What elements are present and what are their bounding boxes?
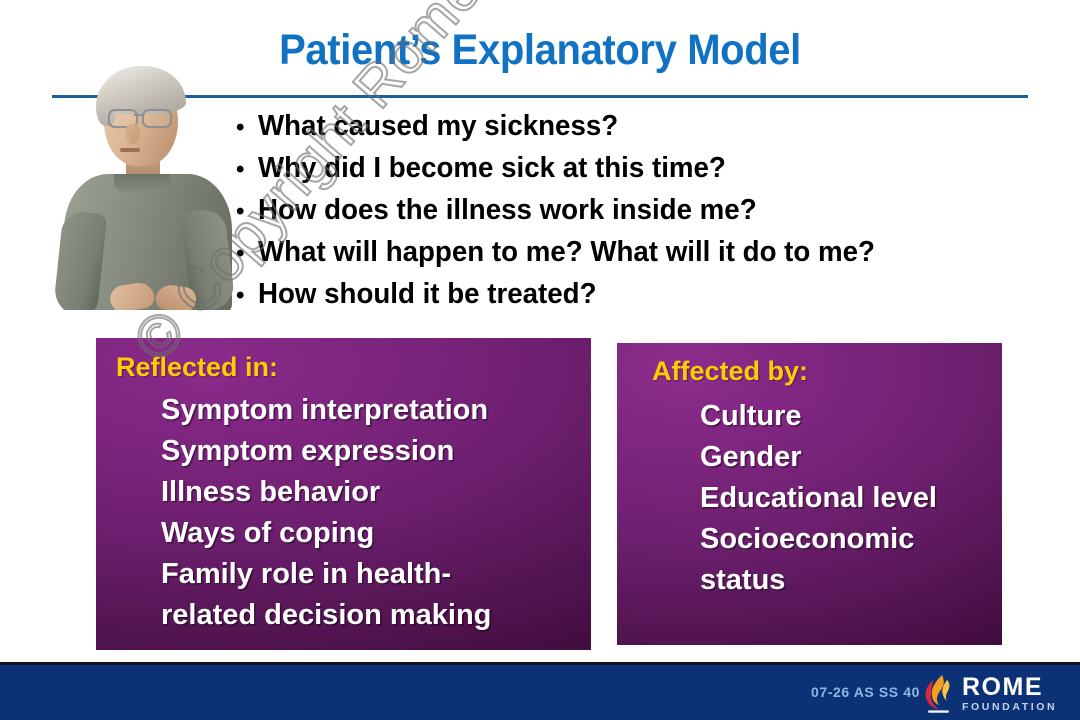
glasses-icon [108, 109, 174, 126]
question-text: What caused my sickness? [258, 106, 618, 146]
logo-primary-text: ROME [962, 675, 1057, 700]
list-item: • What caused my sickness? [236, 106, 1066, 148]
panel-list-item: Family role in health- [161, 554, 491, 595]
glasses-bridge [134, 114, 142, 116]
panel-heading: Reflected in: [116, 352, 278, 382]
panel-list-item: Gender [700, 437, 937, 478]
panel-list-item: Illness behavior [161, 472, 491, 513]
slide-code-label: 07-26 AS SS 40 [811, 684, 920, 700]
panel-list-item: Educational level [700, 478, 937, 519]
panel-list-item: Ways of coping [161, 513, 491, 554]
bullet-icon: • [236, 234, 258, 274]
bullet-icon: • [236, 108, 258, 148]
panel-list-item: status [700, 560, 937, 601]
photo-nose [126, 124, 140, 144]
bullet-icon: • [236, 276, 258, 316]
panel-list-item: Socioeconomic [700, 519, 937, 560]
list-item: • How should it be treated? [236, 274, 1066, 316]
question-list: • What caused my sickness? • Why did I b… [236, 106, 1066, 316]
panel-list-item: Symptom expression [161, 431, 491, 472]
panel-list-item: Symptom interpretation [161, 390, 491, 431]
question-text: How does the illness work inside me? [258, 190, 757, 230]
logo-wordmark: ROME FOUNDATION [962, 675, 1057, 713]
glasses-lens-right [142, 109, 172, 128]
logo-secondary-text: FOUNDATION [962, 701, 1057, 713]
panel-list-item: Culture [700, 396, 937, 437]
patient-photo [52, 62, 242, 310]
question-text: What will happen to me? What will it do … [258, 232, 875, 272]
slide-canvas: Patient’s Explanatory Model • What cause… [0, 0, 1080, 720]
list-item: • How does the illness work inside me? [236, 190, 1066, 232]
question-text: Why did I become sick at this time? [258, 148, 726, 188]
panel-reflected-in: Reflected in: Symptom interpretation Sym… [96, 338, 591, 650]
list-item: • What will happen to me? What will it d… [236, 232, 1066, 274]
photo-collar [114, 174, 170, 194]
flame-icon [922, 674, 956, 714]
photo-mouth [120, 148, 140, 152]
footer-bar: 07-26 AS SS 40 ROME FOUNDATION [0, 665, 1080, 720]
question-text: How should it be treated? [258, 274, 597, 314]
panel-list-item: related decision making [161, 595, 491, 636]
panel-item-list: Culture Gender Educational level Socioec… [700, 396, 937, 601]
rome-foundation-logo: ROME FOUNDATION [922, 673, 1062, 715]
panel-heading: Affected by: [652, 356, 808, 386]
panel-affected-by: Affected by: Culture Gender Educational … [617, 343, 1002, 645]
panel-item-list: Symptom interpretation Symptom expressio… [161, 390, 491, 636]
list-item: • Why did I become sick at this time? [236, 148, 1066, 190]
bullet-icon: • [236, 150, 258, 190]
bullet-icon: • [236, 192, 258, 232]
